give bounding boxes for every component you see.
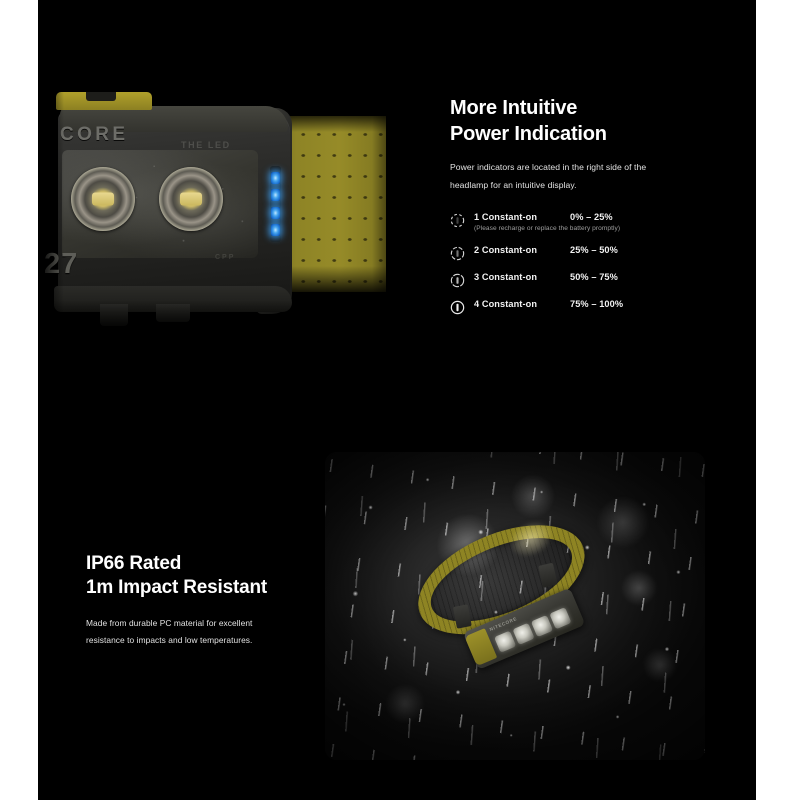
battery-level-1-icon [450,213,465,228]
power-heading-line-1: More Intuitive [450,97,577,119]
led-reflector-right [159,167,223,231]
indicator-led-2 [271,189,280,201]
indicator-range: 50% – 75% [570,272,618,284]
indicator-range: 25% – 50% [570,245,618,257]
page-content-area: CORE THE LED CPP 27 More Intuitive Power… [38,0,756,800]
indicator-label: 3 Constant-on [474,272,570,284]
indicator-led-4 [271,224,280,236]
power-heading-line-2: Power Indication [450,123,607,145]
brand-wordmark: CORE [60,124,129,146]
rain-lamp-led-2 [512,622,534,644]
led-emitter-left [92,193,114,206]
embossed-secondary-text: CPP [215,254,235,261]
rain-lamp-led-3 [531,614,553,636]
ip-heading-line-2: 1m Impact Resistant [86,577,267,598]
strap-shadow-right [372,116,386,292]
rain-lamp-led-4 [549,607,571,629]
indicator-range: 75% – 100% [570,299,623,311]
strap-shadow-top [276,116,386,132]
indicator-note: (Please recharge or replace the battery … [474,225,620,232]
ip-heading-line-1: IP66 Rated [86,553,181,574]
battery-indicator-list: 1 Constant-on 0% – 25% (Please recharge … [450,212,740,315]
indicator-row: 4 Constant-on 75% – 100% [450,299,740,315]
strap-anchor-tab [56,92,152,110]
ip-rating-section: IP66 Rated 1m Impact Resistant Made from… [86,552,356,649]
ip-subcopy-line-1: Made from durable PC material for excell… [86,618,252,628]
ip-subcopy-line-2: resistance to impacts and low temperatur… [86,635,252,645]
strap-anchor-notch [86,92,116,101]
indicator-led-3 [271,207,280,219]
indicator-row: 1 Constant-on 0% – 25% (Please recharge … [450,212,740,228]
ip-section-heading: IP66 Rated 1m Impact Resistant [86,552,356,601]
rain-scene-photo: NITECORE [325,452,705,760]
power-indication-section: More Intuitive Power Indication Power in… [450,96,740,326]
ip-section-subcopy: Made from durable PC material for excell… [86,615,356,649]
headlamp-closeup-photo: CORE THE LED CPP 27 [38,88,386,334]
indicator-range: 0% – 25% [570,212,613,224]
battery-level-4-icon [450,300,465,315]
power-subcopy-line-2: headlamp for an intuitive display. [450,180,577,190]
embossed-led-text: THE LED [181,140,231,150]
strap-shadow-bottom [276,266,386,292]
battery-level-3-icon [450,273,465,288]
photo-edge-fade-bottom [38,300,386,334]
led-reflector-left [71,167,135,231]
indicator-label: 4 Constant-on [474,299,570,311]
power-section-heading: More Intuitive Power Indication [450,96,740,147]
battery-level-2-icon [450,246,465,261]
power-subcopy-line-1: Power indicators are located in the righ… [450,162,646,172]
battery-indicator-strip [270,166,281,242]
indicator-label: 1 Constant-on [474,212,570,224]
indicator-led-1 [271,172,280,184]
rain-lamp-led-1 [494,630,516,652]
photo-edge-fade-left [38,88,64,334]
indicator-row: 3 Constant-on 50% – 75% [450,272,740,288]
indicator-row: 2 Constant-on 25% – 50% [450,245,740,261]
power-section-subcopy: Power indicators are located in the righ… [450,159,740,194]
led-emitter-right [180,193,202,206]
headlamp-strap [276,116,386,292]
indicator-label: 2 Constant-on [474,245,570,257]
